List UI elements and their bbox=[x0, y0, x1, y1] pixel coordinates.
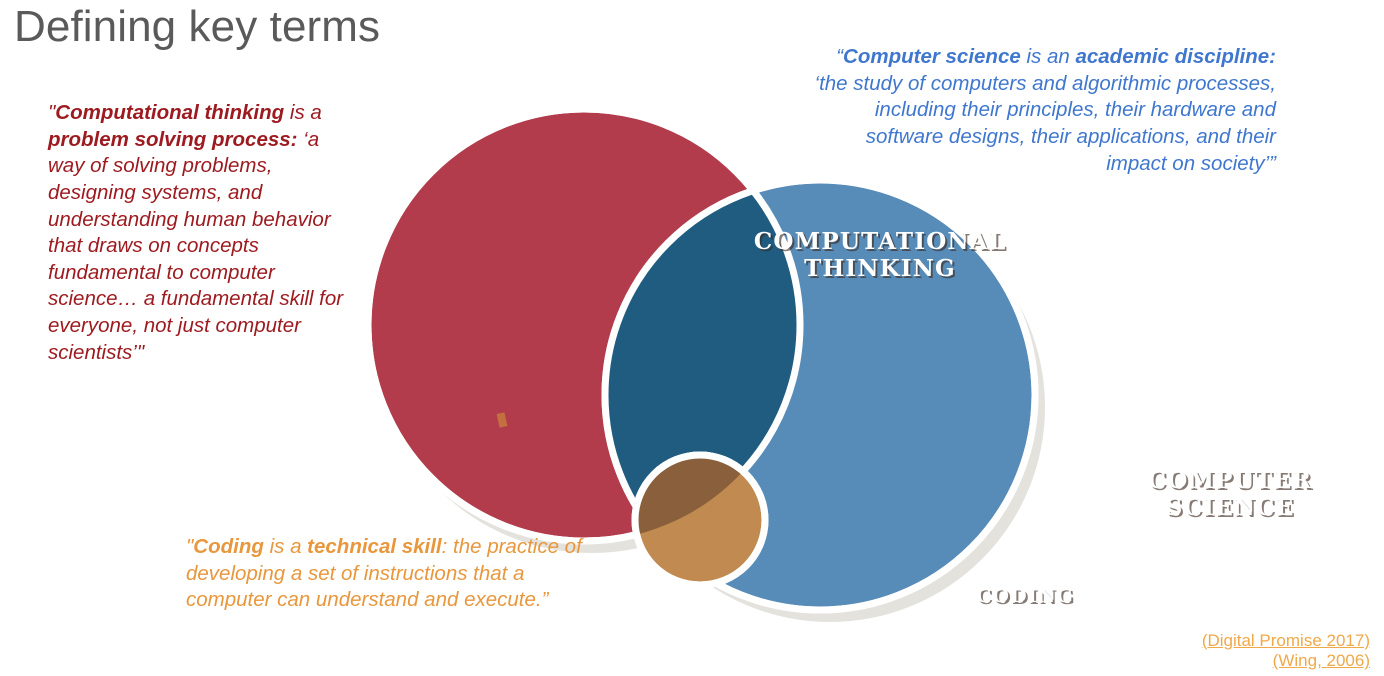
quote-mid: is a bbox=[264, 535, 307, 558]
venn-label-computer-science: COMPUTER SCIENCE bbox=[1120, 467, 1340, 521]
quote-bold-phrase: problem solving process: bbox=[48, 128, 297, 151]
quote-bold-term: Computational thinking bbox=[55, 101, 284, 124]
citation-link-digital-promise[interactable]: (Digital Promise 2017) bbox=[1202, 631, 1370, 652]
quote-coding: "Coding is a technical skill: the practi… bbox=[186, 534, 606, 614]
quote-open-quote: “ bbox=[836, 45, 843, 68]
quote-body: ‘the study of computers and algorithmic … bbox=[815, 72, 1276, 175]
quote-bold-phrase: academic discipline: bbox=[1075, 45, 1276, 68]
citation-link-wing[interactable]: (Wing, 2006) bbox=[1202, 651, 1370, 672]
quote-mid: is an bbox=[1021, 45, 1076, 68]
quote-computational-thinking: "Computational thinking is a problem sol… bbox=[48, 100, 348, 366]
quote-bold-phrase: technical skill bbox=[307, 535, 441, 558]
citations: (Digital Promise 2017) (Wing, 2006) bbox=[1202, 631, 1370, 672]
page-title: Defining key terms bbox=[14, 2, 380, 52]
quote-bold-term: Coding bbox=[193, 535, 264, 558]
quote-computer-science: “Computer science is an academic discipl… bbox=[806, 44, 1276, 177]
slide-canvas: Defining key terms bbox=[0, 0, 1384, 676]
quote-mid: is a bbox=[284, 101, 322, 124]
quote-body: ‘a way of solving problems, designing sy… bbox=[48, 128, 343, 364]
quote-bold-term: Computer science bbox=[843, 45, 1021, 68]
